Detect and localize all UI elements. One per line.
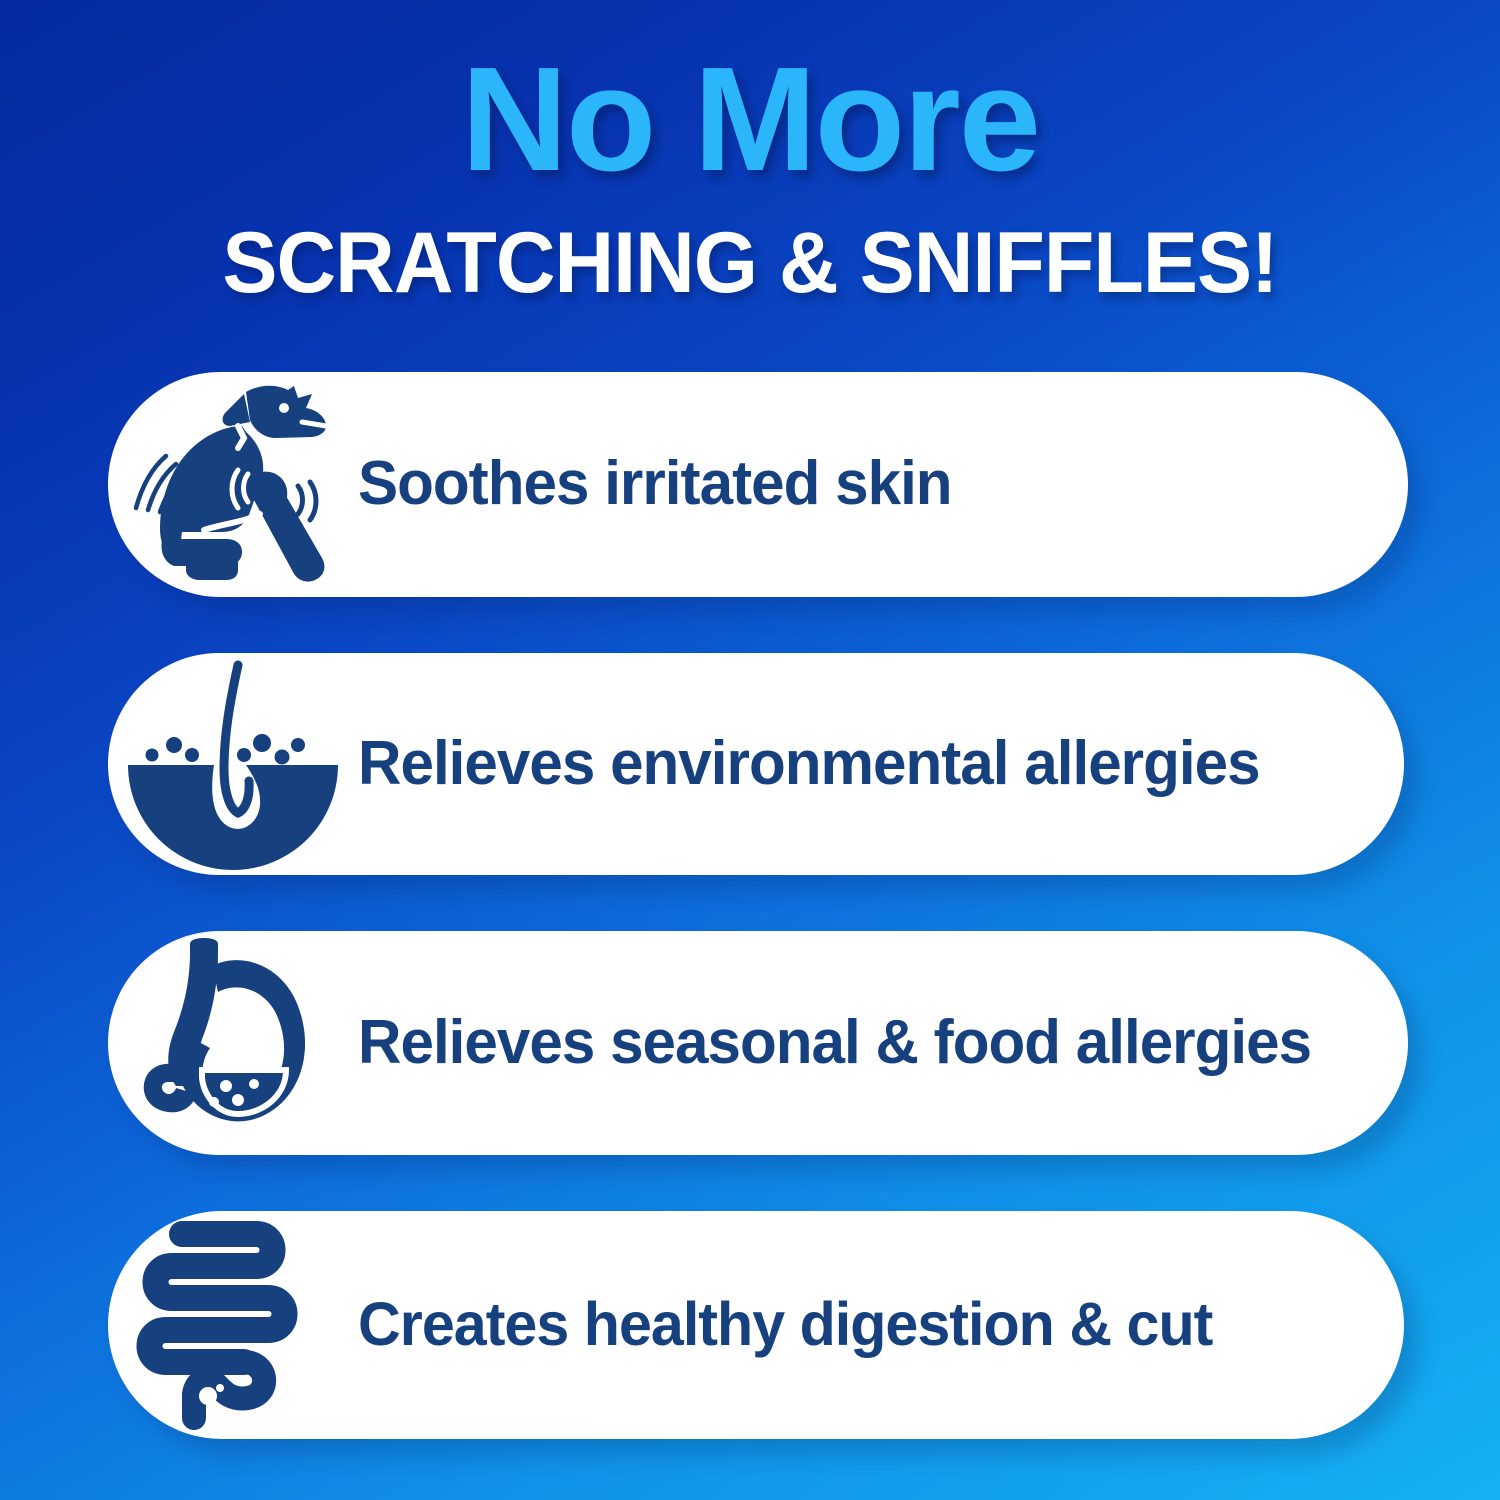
benefit-card-list: Soothes irritated skin [0,372,1500,1439]
benefit-card-environmental-allergies[interactable]: Relieves environmental allergies [108,653,1404,875]
benefit-label: Relieves seasonal & food allergies [358,1010,1377,1077]
benefit-label: Soothes irritated skin [358,451,1377,518]
headline-primary: No More [0,46,1500,194]
headline-secondary: SCRATCHING & SNIFFLES! [30,220,1470,306]
promo-poster: No More SCRATCHING & SNIFFLES! [0,0,1500,1500]
benefit-card-soothes-skin[interactable]: Soothes irritated skin [108,372,1408,597]
hair-follicle-allergens-icon [108,653,358,875]
benefit-card-healthy-digestion[interactable]: Creates healthy digestion & cut [108,1211,1404,1439]
benefit-label: Creates healthy digestion & cut [358,1292,1373,1358]
headline-block: No More SCRATCHING & SNIFFLES! [0,46,1500,306]
benefit-label: Relieves environmental allergies [358,731,1373,798]
scratching-dog-icon [108,372,358,597]
benefit-card-seasonal-food-allergies[interactable]: Relieves seasonal & food allergies [108,931,1408,1155]
intestine-icon [108,1211,358,1439]
stomach-icon [108,931,358,1155]
